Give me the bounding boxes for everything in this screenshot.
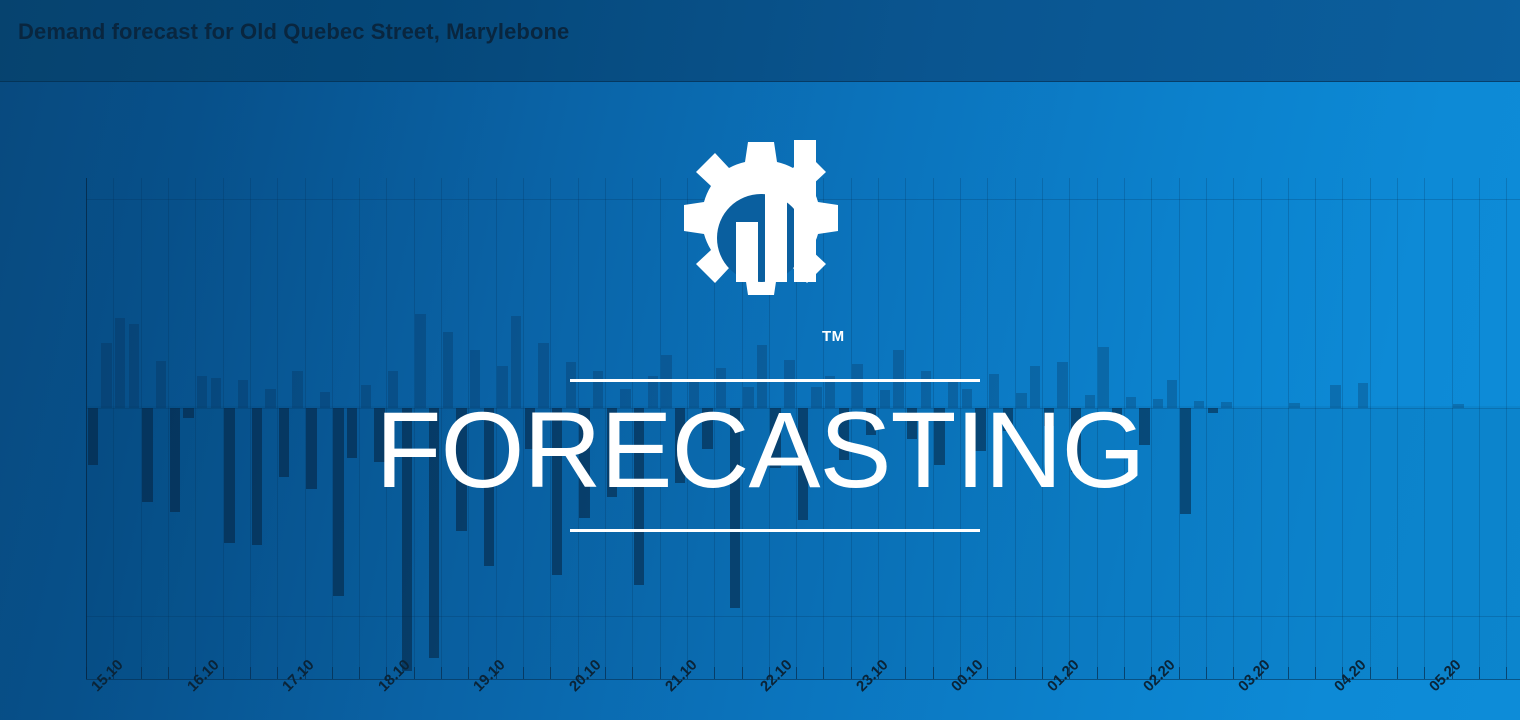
bar: [989, 374, 999, 407]
bar: [921, 371, 931, 408]
bar: [1003, 408, 1013, 431]
x-axis-tick: [250, 667, 251, 679]
bar: [333, 408, 343, 596]
x-axis-tick: [933, 667, 934, 679]
bar: [429, 408, 439, 659]
bar: [607, 408, 617, 498]
x-axis-tick: [632, 667, 633, 679]
bar: [1208, 408, 1218, 413]
bar: [1167, 380, 1177, 407]
bar: [497, 366, 507, 408]
x-axis-tick: [823, 667, 824, 679]
x-axis-tick: [550, 667, 551, 679]
bar: [552, 408, 562, 575]
x-axis-tick: [714, 667, 715, 679]
x-axis-tick: [1206, 667, 1207, 679]
gridline-vertical: [441, 178, 442, 679]
x-axis-tick: [1506, 667, 1507, 679]
gridline-horizontal: [86, 616, 1520, 617]
bar: [361, 385, 371, 408]
bar: [347, 408, 357, 458]
bar: [1330, 385, 1340, 408]
gridline-vertical: [414, 178, 415, 679]
bar: [839, 408, 849, 460]
x-axis-tick: [1015, 667, 1016, 679]
gridline-vertical: [1424, 178, 1425, 679]
gridline-vertical: [496, 178, 497, 679]
gridline-vertical: [714, 178, 715, 679]
gridline-vertical: [1342, 178, 1343, 679]
page-title: Demand forecast for Old Quebec Street, M…: [18, 19, 569, 45]
gridline-vertical: [905, 178, 906, 679]
x-axis-tick: [1042, 667, 1043, 679]
x-axis-tick: [660, 667, 661, 679]
bar: [1030, 366, 1040, 408]
bar: [907, 408, 917, 439]
bar: [620, 389, 630, 408]
gridline-vertical: [1069, 178, 1070, 679]
x-axis-tick: [141, 667, 142, 679]
bar: [129, 324, 139, 408]
bar: [648, 376, 658, 407]
bar: [716, 368, 726, 408]
bar: [1453, 404, 1463, 407]
plot-area: 2.22.00.0-2.0-2.6 15.1016.1017.1018.1019…: [0, 82, 1520, 720]
gridline-vertical: [1151, 178, 1152, 679]
bar: [238, 380, 248, 407]
gridline-vertical: [1261, 178, 1262, 679]
x-axis-tick: [1288, 667, 1289, 679]
bar: [115, 318, 125, 408]
gridline-vertical: [742, 178, 743, 679]
bar: [374, 408, 384, 462]
bar: [730, 408, 740, 608]
x-axis-tick: [1479, 667, 1480, 679]
bar: [1358, 383, 1368, 408]
gridline-horizontal: [86, 199, 1520, 200]
bar: [320, 392, 330, 408]
bar: [866, 408, 876, 435]
bar: [538, 343, 548, 408]
bar: [593, 371, 603, 408]
bar: [798, 408, 808, 521]
bar: [101, 343, 111, 408]
y-axis-labels: 2.22.00.0-2.0-2.6: [0, 82, 80, 720]
bar: [388, 371, 398, 408]
bar: [852, 364, 862, 408]
bar: [948, 380, 958, 407]
bar: [1221, 402, 1231, 407]
x-axis-tick: [905, 667, 906, 679]
gridline-vertical: [987, 178, 988, 679]
gridline-vertical: [1015, 178, 1016, 679]
gridline-vertical: [1452, 178, 1453, 679]
bar: [306, 408, 316, 489]
bar: [183, 408, 193, 418]
x-axis-tick: [1179, 667, 1180, 679]
bar: [1057, 362, 1067, 408]
gridline-vertical: [1506, 178, 1507, 679]
x-axis-tick: [441, 667, 442, 679]
gridline-vertical: [386, 178, 387, 679]
gridline-vertical: [359, 178, 360, 679]
bar: [1289, 403, 1299, 407]
bar: [415, 314, 425, 408]
bar: [456, 408, 466, 531]
bar: [1112, 408, 1122, 421]
gridline-vertical: [468, 178, 469, 679]
bar: [825, 376, 835, 407]
bar: [1044, 408, 1054, 427]
x-axis-tick: [605, 667, 606, 679]
bar: [279, 408, 289, 477]
bar: [661, 355, 671, 407]
bar: [1153, 399, 1163, 407]
bar: [579, 408, 589, 519]
gridline-vertical: [1479, 178, 1480, 679]
x-axis-tick: [168, 667, 169, 679]
x-axis-tick: [523, 667, 524, 679]
x-axis-tick: [1397, 667, 1398, 679]
gridline-vertical: [195, 178, 196, 679]
bar: [1194, 401, 1204, 407]
gridline-vertical: [1370, 178, 1371, 679]
gridline-vertical: [851, 178, 852, 679]
gridline-vertical: [660, 178, 661, 679]
gridline-vertical: [1097, 178, 1098, 679]
x-axis-tick: [468, 667, 469, 679]
bar: [1098, 347, 1108, 408]
x-axis-tick: [1424, 667, 1425, 679]
bar: [634, 408, 644, 585]
bar: [1126, 397, 1136, 407]
bar: [224, 408, 234, 544]
bar: [443, 332, 453, 407]
gridline-vertical: [960, 178, 961, 679]
x-axis-tick: [796, 667, 797, 679]
bar: [784, 360, 794, 408]
x-axis-tick: [742, 667, 743, 679]
bar: [1016, 393, 1026, 408]
gridline-vertical: [687, 178, 688, 679]
bar: [484, 408, 494, 567]
gridline-vertical: [1288, 178, 1289, 679]
bar: [402, 408, 412, 671]
chart-panel: 2.22.00.0-2.0-2.6 15.1016.1017.1018.1019…: [0, 82, 1520, 720]
x-axis-tick: [332, 667, 333, 679]
bar: [265, 389, 275, 408]
bar: [975, 408, 985, 452]
gridline-vertical: [1206, 178, 1207, 679]
x-axis-tick: [1370, 667, 1371, 679]
bar: [743, 387, 753, 408]
x-axis-tick: [1233, 667, 1234, 679]
x-axis-tick: [86, 667, 87, 679]
bar: [811, 387, 821, 408]
bar: [511, 316, 521, 408]
bar: [156, 361, 166, 408]
bar: [211, 378, 221, 407]
x-axis-tick: [1124, 667, 1125, 679]
bar: [962, 389, 972, 408]
x-axis-tick: [223, 667, 224, 679]
x-axis-tick: [277, 667, 278, 679]
bar: [88, 408, 98, 465]
bar: [566, 362, 576, 408]
gridline-vertical: [1124, 178, 1125, 679]
gridline-vertical: [632, 178, 633, 679]
bar: [525, 408, 535, 450]
x-axis-tick: [1097, 667, 1098, 679]
x-axis-tick: [851, 667, 852, 679]
gridline-vertical: [1233, 178, 1234, 679]
x-axis-tick: [359, 667, 360, 679]
gridline-vertical: [1042, 178, 1043, 679]
bar: [757, 345, 767, 408]
bar: [880, 390, 890, 408]
bar: [675, 408, 685, 483]
x-axis-tick: [1315, 667, 1316, 679]
gridline-vertical: [1397, 178, 1398, 679]
bar: [702, 408, 712, 450]
x-axis-tick: [987, 667, 988, 679]
bar: [170, 408, 180, 512]
bar: [1139, 408, 1149, 446]
bar: [1085, 395, 1095, 408]
bar: [689, 382, 699, 408]
bar: [1180, 408, 1190, 514]
gridline-vertical: [878, 178, 879, 679]
bar: [893, 350, 903, 407]
gridline-vertical: [550, 178, 551, 679]
gridline-vertical: [823, 178, 824, 679]
x-axis-tick: [414, 667, 415, 679]
bar: [197, 376, 207, 407]
bar: [1071, 408, 1081, 473]
y-axis-line: [86, 178, 87, 679]
bar: [770, 408, 780, 469]
gridline-vertical: [113, 178, 114, 679]
bar: [252, 408, 262, 546]
screenshot-root: Demand forecast for Old Quebec Street, M…: [0, 0, 1520, 720]
header-bar: Demand forecast for Old Quebec Street, M…: [0, 0, 1520, 82]
bar: [142, 408, 152, 502]
gridline-vertical: [1315, 178, 1316, 679]
bar: [470, 350, 480, 407]
bar: [934, 408, 944, 465]
bar: [292, 371, 302, 408]
